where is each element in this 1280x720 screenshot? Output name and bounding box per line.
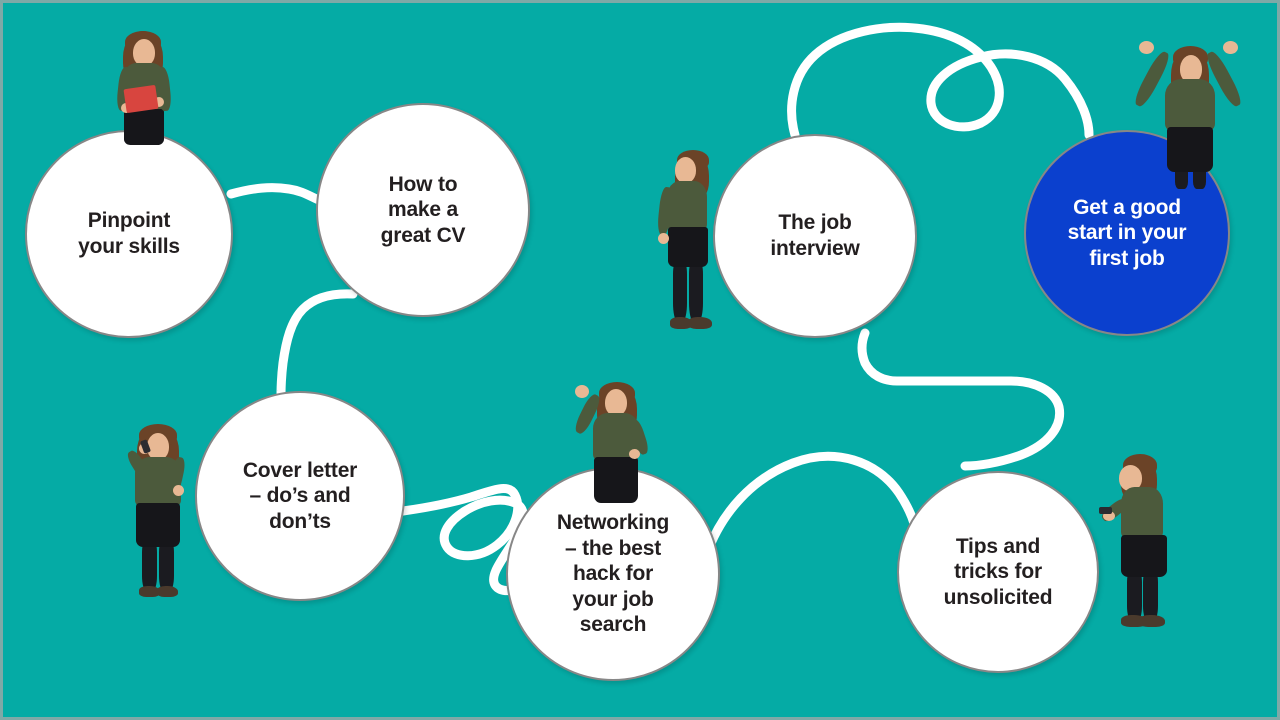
skirt-icon [594, 457, 638, 503]
leg-right-icon [159, 541, 174, 591]
node-tips-and-tricks-unsolicited[interactable]: Tips and tricks for unsolicited [897, 471, 1099, 673]
hand-left-waving-icon [575, 385, 589, 398]
skirt-icon [136, 503, 180, 547]
leg-left-icon [1127, 571, 1142, 621]
node-pinpoint-your-skills[interactable]: Pinpoint your skills [25, 130, 233, 338]
skirt-icon [1167, 127, 1213, 172]
node-label-the-job-interview: The job interview [756, 210, 873, 261]
hand-left-raised-icon [1139, 41, 1154, 54]
phone-icon [1099, 507, 1112, 514]
hand-left-icon [658, 233, 669, 244]
node-label-tips-and-tricks-unsolicited: Tips and tricks for unsolicited [930, 534, 1067, 611]
torso-icon [1121, 487, 1163, 539]
leg-left-icon [673, 261, 687, 321]
leg-right-icon [689, 261, 703, 321]
node-layer: Pinpoint your skills How to make a great… [3, 3, 1277, 717]
node-label-how-to-make-a-great-cv: How to make a great CV [367, 172, 480, 249]
skirt-icon [1121, 535, 1167, 577]
leg-left-icon [142, 541, 157, 591]
node-label-cover-letter-dos-and-donts: Cover letter – do’s and don’ts [229, 458, 371, 535]
torso-icon [667, 181, 707, 231]
hand-right-raised-icon [1223, 41, 1238, 54]
node-cover-letter-dos-and-donts[interactable]: Cover letter – do’s and don’ts [195, 391, 405, 601]
skirt-icon [124, 109, 164, 145]
node-label-get-a-good-start-first-job: Get a good start in your first job [1054, 195, 1201, 272]
skirt-icon [668, 227, 708, 267]
head-icon [147, 433, 169, 460]
hand-right-icon [173, 485, 184, 496]
head-icon [133, 39, 155, 66]
shoe-right-icon [157, 586, 178, 597]
roadmap-canvas: Pinpoint your skills How to make a great… [0, 0, 1280, 720]
torso-icon [1165, 79, 1215, 131]
shoe-right-icon [688, 317, 712, 329]
head-icon [605, 389, 627, 416]
hand-right-icon [629, 449, 640, 459]
clipboard-icon [123, 85, 158, 113]
head-icon [675, 157, 696, 183]
leg-right-icon [1143, 571, 1158, 621]
node-the-job-interview[interactable]: The job interview [713, 134, 917, 338]
node-label-pinpoint-your-skills: Pinpoint your skills [64, 208, 194, 259]
shoe-right-icon [1139, 615, 1165, 627]
node-label-networking-best-hack: Networking – the best hack for your job … [543, 510, 683, 638]
node-how-to-make-a-great-cv[interactable]: How to make a great CV [316, 103, 530, 317]
